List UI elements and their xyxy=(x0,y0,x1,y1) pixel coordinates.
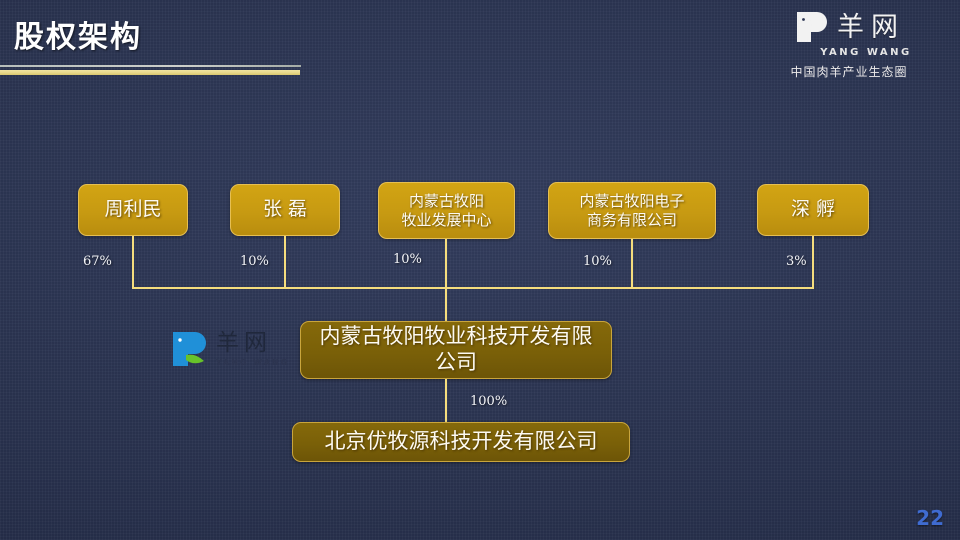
slide-canvas: 股权架构 羊网 YANG WANG 中国肉羊产业生态圈 周利民 张 磊 内蒙古牧… xyxy=(0,0,960,540)
connector-drop-1 xyxy=(132,236,134,287)
shareholder-box-4[interactable]: 内蒙古牧阳电子 商务有限公司 xyxy=(548,182,716,239)
subsidiary-company-box[interactable]: 北京优牧源科技开发有限公司 xyxy=(292,422,630,462)
connector-bus xyxy=(132,287,814,289)
connector-subsidiary-drop xyxy=(445,379,447,422)
brand-logo: 羊网 YANG WANG 中国肉羊产业生态圈 xyxy=(754,8,944,80)
percent-label-5: 3% xyxy=(786,254,807,269)
percent-label-subsidiary: 100% xyxy=(470,394,507,409)
shareholder-box-1[interactable]: 周利民 xyxy=(78,184,188,236)
sheep-head-logo-icon xyxy=(793,8,831,46)
shareholder-box-5[interactable]: 深 孵 xyxy=(757,184,869,236)
parent-company-box[interactable]: 内蒙古牧阳牧业科技开发有限公司 xyxy=(300,321,612,379)
page-number: 22 xyxy=(916,506,944,530)
percent-label-2: 10% xyxy=(240,254,269,269)
sheep-head-color-logo-icon xyxy=(168,327,212,371)
title-divider-thin xyxy=(0,65,301,67)
center-logo: 羊网 YANG WANG xyxy=(168,322,296,376)
brand-logo-word: 羊网 xyxy=(837,14,905,41)
shareholder-box-3[interactable]: 内蒙古牧阳 牧业发展中心 xyxy=(378,182,515,239)
page-title: 股权架构 xyxy=(14,12,142,56)
center-logo-latin: YANG WANG xyxy=(216,358,289,367)
connector-drop-3 xyxy=(445,239,447,287)
connector-parent-drop xyxy=(445,287,447,321)
percent-label-1: 67% xyxy=(83,254,112,269)
percent-label-4: 10% xyxy=(583,254,612,269)
connector-drop-2 xyxy=(284,236,286,287)
brand-logo-tagline: 中国肉羊产业生态圈 xyxy=(754,63,944,80)
title-divider-gold xyxy=(0,70,300,75)
center-logo-word: 羊网 xyxy=(216,332,289,355)
brand-logo-latin: YANG WANG xyxy=(788,47,944,58)
connector-drop-5 xyxy=(812,236,814,287)
percent-label-3: 10% xyxy=(393,252,422,267)
connector-drop-4 xyxy=(631,239,633,287)
shareholder-box-2[interactable]: 张 磊 xyxy=(230,184,340,236)
